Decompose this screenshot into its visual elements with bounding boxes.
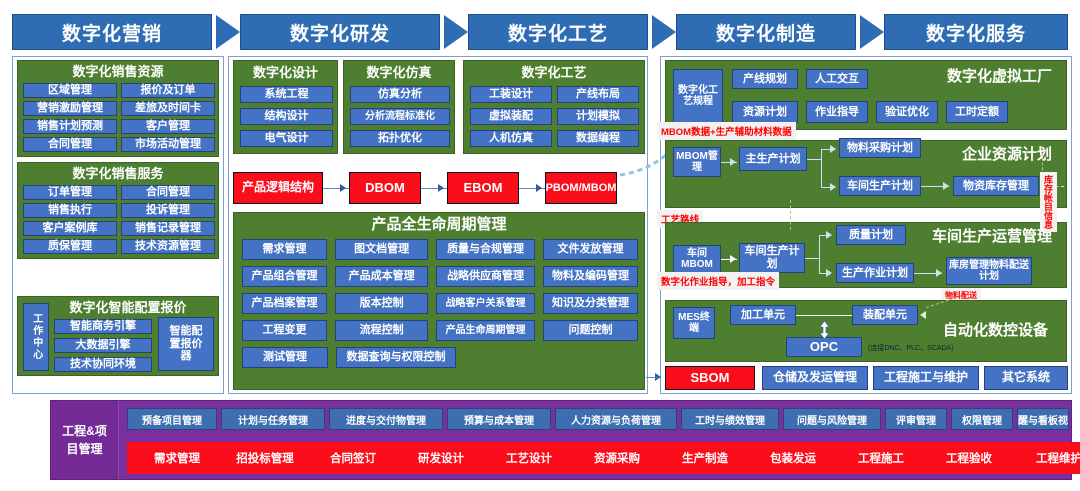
card-product-lifecycle-management[interactable]: 产品生命周期管理 <box>436 320 535 341</box>
stage-rd-design[interactable]: 研发设计 <box>391 442 491 474</box>
plm-row-4: 工程变更 流程控制 产品生命周期管理 问题控制 <box>242 320 638 341</box>
pm-card-hours-performance[interactable]: 工时与绩效管理 <box>681 408 779 430</box>
card-work-instruction[interactable]: 作业指导 <box>806 101 868 123</box>
panel-digital-design: 数字化设计 系统工程 结构设计 电气设计 <box>233 60 338 154</box>
callout-work-instruction: 数字化作业指导，加工指令 <box>657 272 779 290</box>
card-file-release-management[interactable]: 文件发放管理 <box>543 239 638 260</box>
card-resource-plan[interactable]: 资源计划 <box>732 101 798 123</box>
panel-title-workshop-operations: 车间生产运营管理 <box>932 229 1052 246</box>
label-unit-note: 数控驱动、采集、自动检测等 <box>797 290 853 297</box>
phase-banner-marketing[interactable]: 数字化营销 <box>12 14 212 50</box>
card-product-archive[interactable]: 产品档案管理 <box>242 293 327 314</box>
panel-sales-service: 数字化销售服务 订单管理 销售执行 客户案例库 质保管理 合同管理 投诉管理 销… <box>17 162 219 259</box>
card-mes-terminal[interactable]: MES终端 <box>673 307 715 339</box>
card-virtual-assembly[interactable]: 虚拟装配 <box>470 108 552 125</box>
panel-title-automation: 自动化数控设备 <box>943 323 1048 340</box>
card-sales-execution[interactable]: 销售执行 <box>23 203 117 218</box>
project-management-band: 工程&项 目管理 预备项目管理 计划与任务管理 进度与交付物管理 预算与成本管理… <box>50 400 1072 480</box>
card-market-activity[interactable]: 市场活动管理 <box>121 137 215 152</box>
pm-title-line2: 目管理 <box>66 440 102 458</box>
card-structural-design[interactable]: 结构设计 <box>240 108 333 125</box>
phase-banner-rd[interactable]: 数字化研发 <box>240 14 440 50</box>
mes-conn-2 <box>805 258 819 259</box>
pm-card-preliminary-project[interactable]: 预备项目管理 <box>127 408 217 430</box>
bom-arrow-2-icon <box>438 184 444 192</box>
card-version-control[interactable]: 版本控制 <box>335 293 428 314</box>
card-marketing-incentive[interactable]: 营销激励管理 <box>23 101 117 116</box>
card-workshop-production-plan[interactable]: 车间生产计划 <box>839 176 921 196</box>
card-customer-management[interactable]: 客户管理 <box>121 119 215 134</box>
mes-arrow-3-icon <box>826 269 832 277</box>
panel-digital-simulation: 数字化仿真 仿真分析 分析流程标准化 拓扑优化 <box>343 60 455 154</box>
card-warranty-management[interactable]: 质保管理 <box>23 239 117 254</box>
dash-separator-1 <box>790 200 791 230</box>
project-management-title: 工程&项 目管理 <box>51 401 119 479</box>
pm-card-budget-cost[interactable]: 预算与成本管理 <box>447 408 551 430</box>
card-warehouse-shipping-management[interactable]: 仓储及发运管理 <box>762 366 868 390</box>
panel-title-digital-design: 数字化设计 <box>234 66 337 80</box>
stage-bidding-management[interactable]: 招投标管理 <box>215 442 315 474</box>
card-product-logic-structure[interactable]: 产品逻辑结构 <box>233 172 323 204</box>
card-data-query-permission[interactable]: 数据查询与权限控制 <box>336 347 456 368</box>
card-product-cost-management[interactable]: 产品成本管理 <box>335 266 428 287</box>
card-dbom[interactable]: DBOM <box>349 172 421 204</box>
phase-arrow-1-icon <box>216 15 240 49</box>
card-knowledge-classification[interactable]: 知识及分类管理 <box>543 293 638 314</box>
stage-packaging-shipping[interactable]: 包装发运 <box>743 442 843 474</box>
card-sales-record-management[interactable]: 销售记录管理 <box>121 221 215 236</box>
card-sbom[interactable]: SBOM <box>665 366 755 390</box>
card-human-machine-simulation[interactable]: 人机仿真 <box>470 130 552 147</box>
panel-automation: 自动化数控设备 MES终端 加工单元 装配单元 数控驱动、采集、自动检测等 OP… <box>665 300 1067 362</box>
plm-row-3: 产品档案管理 版本控制 战略客户关系管理 知识及分类管理 <box>242 293 638 314</box>
panel-erp: 企业资源计划 MBOM管理 主生产计划 物料采购计划 车间生产计划 物资库存管理 <box>665 140 1067 208</box>
card-material-inventory-management[interactable]: 物资库存管理 <box>953 176 1039 196</box>
erp-arrow-4-icon <box>943 182 949 190</box>
card-material-coding[interactable]: 物料及编码管理 <box>543 266 638 287</box>
panel-title-sales-service: 数字化销售服务 <box>18 167 218 181</box>
callout-inventory-account: 库存帐目信息 <box>1040 172 1057 232</box>
card-analysis-process-standardization[interactable]: 分析流程标准化 <box>350 108 450 125</box>
pm-card-permission[interactable]: 权限管理 <box>951 408 1013 430</box>
bom-arrow-1-icon <box>340 184 346 192</box>
card-bigdata-engine[interactable]: 大数据引擎 <box>54 338 152 353</box>
phase-label: 数字化研发 <box>290 19 390 46</box>
card-simulation-analysis[interactable]: 仿真分析 <box>350 86 450 103</box>
card-quote-order[interactable]: 报价及订单 <box>121 83 215 98</box>
auto-arrow-delivery-icon <box>920 311 926 319</box>
card-contract-management-2[interactable]: 合同管理 <box>121 185 215 200</box>
stage-contract-signing[interactable]: 合同签订 <box>303 442 403 474</box>
stage-engineering-maintenance[interactable]: 工程维护 <box>1007 442 1080 474</box>
plm-row-5: 测试管理 数据查询与权限控制 <box>242 347 638 368</box>
card-smart-config-quoter[interactable]: 智能配置报价器 <box>158 317 214 371</box>
phase-banner-row: 数字化营销 数字化研发 数字化工艺 数字化制造 数字化服务 <box>0 14 1080 50</box>
plm-row-1: 需求管理 图文档管理 质量与合规管理 文件发放管理 <box>242 239 638 260</box>
card-master-production-plan[interactable]: 主生产计划 <box>739 147 807 171</box>
phase-arrow-2-icon <box>444 15 468 49</box>
card-quality-compliance[interactable]: 质量与合规管理 <box>436 239 535 260</box>
card-tooling-design[interactable]: 工装设计 <box>470 86 552 103</box>
phase-banner-manufacturing[interactable]: 数字化制造 <box>676 14 856 50</box>
panel-sales-resource: 数字化销售资源 区域管理 营销激励管理 销售计划预测 合同管理 报价及订单 差旅… <box>17 60 219 157</box>
pm-card-plan-task[interactable]: 计划与任务管理 <box>221 408 325 430</box>
sbom-connector <box>646 377 658 378</box>
card-engineering-construction-maintenance[interactable]: 工程施工与维护 <box>873 366 979 390</box>
panel-title-plm: 产品全生命周期管理 <box>234 217 644 234</box>
card-warehouse-material-delivery-plan[interactable]: 库房管理物料配送计划 <box>946 257 1032 285</box>
pm-card-issue-risk[interactable]: 问题与风险管理 <box>783 408 881 430</box>
mes-arrow-4-icon <box>936 269 942 277</box>
phase-label: 数字化制造 <box>716 19 816 46</box>
card-strategic-customer-relation[interactable]: 战略客户关系管理 <box>436 293 535 314</box>
card-sales-forecast[interactable]: 销售计划预测 <box>23 119 117 134</box>
card-assembly-unit[interactable]: 装配单元 <box>852 305 918 325</box>
card-material-purchase-plan[interactable]: 物料采购计划 <box>839 138 921 158</box>
phase-label: 数字化营销 <box>62 19 162 46</box>
card-issue-control[interactable]: 问题控制 <box>543 320 638 341</box>
panel-title-erp: 企业资源计划 <box>962 147 1052 164</box>
erp-arrow-1-icon <box>730 158 736 166</box>
panel-digital-craft: 数字化工艺 工装设计 虚拟装配 人机仿真 产线布局 计划模拟 数据编程 <box>463 60 645 154</box>
card-strategic-supplier[interactable]: 战略供应商管理 <box>436 266 535 287</box>
card-other-systems[interactable]: 其它系统 <box>984 366 1068 390</box>
card-work-center[interactable]: 工作中心 <box>23 303 49 371</box>
panel-virtual-factory: 数字化虚拟工厂 数字化工艺规程 产线规划 人工交互 资源计划 作业指导 验证优化… <box>665 60 1067 130</box>
stage-engineering-acceptance[interactable]: 工程验收 <box>919 442 1019 474</box>
mes-arrow-1-icon <box>730 255 736 263</box>
card-electrical-design[interactable]: 电气设计 <box>240 130 333 147</box>
mes-arrow-2-icon <box>826 231 832 239</box>
stage-requirement-management[interactable]: 需求管理 <box>127 442 227 474</box>
stage-engineering-construction[interactable]: 工程施工 <box>831 442 931 474</box>
panel-title-digital-craft: 数字化工艺 <box>464 66 644 80</box>
erp-conn-2 <box>807 159 821 160</box>
stage-production-manufacturing[interactable]: 生产制造 <box>655 442 755 474</box>
card-contract-management[interactable]: 合同管理 <box>23 137 117 152</box>
card-pbom-mbom[interactable]: PBOM/MBOM <box>545 172 617 204</box>
card-customer-case-library[interactable]: 客户案例库 <box>23 221 117 236</box>
digital-enterprise-architecture-diagram: 数字化营销 数字化研发 数字化工艺 数字化制造 数字化服务 数字化销售资源 区域… <box>0 0 1080 491</box>
card-production-job-plan[interactable]: 生产作业计划 <box>836 263 914 283</box>
auto-conn-1 <box>796 315 852 316</box>
card-verification-optimization[interactable]: 验证优化 <box>876 101 938 123</box>
card-production-line-planning[interactable]: 产线规划 <box>732 69 798 89</box>
phase-label: 数字化服务 <box>926 19 1026 46</box>
card-tech-collab-environment[interactable]: 技术协同环境 <box>54 357 152 372</box>
pm-card-reminder-kanban[interactable]: 提醒与看板视图 <box>1017 408 1069 430</box>
panel-title-virtual-factory: 数字化虚拟工厂 <box>947 69 1052 86</box>
phase-arrow-3-icon <box>652 15 676 49</box>
card-workshop-mbom[interactable]: 车间MBOM <box>673 245 721 273</box>
card-test-management[interactable]: 测试管理 <box>242 347 328 368</box>
card-topology-optimization[interactable]: 拓扑优化 <box>350 130 450 147</box>
card-digital-craft-spec[interactable]: 数字化工艺规程 <box>673 69 723 123</box>
pm-card-review[interactable]: 评审管理 <box>885 408 947 430</box>
opc-double-arrow-icon <box>820 321 829 339</box>
plm-row-2: 产品组合管理 产品成本管理 战略供应商管理 物料及编码管理 <box>242 266 638 287</box>
card-requirement-management[interactable]: 需求管理 <box>242 239 327 260</box>
card-production-line-layout[interactable]: 产线布局 <box>557 86 639 103</box>
card-smart-business-engine[interactable]: 智能商务引擎 <box>54 319 152 334</box>
card-travel-timecard[interactable]: 差旅及时间卡 <box>121 101 215 116</box>
bom-arrow-3-icon <box>536 184 542 192</box>
card-quality-plan[interactable]: 质量计划 <box>836 225 906 245</box>
pm-card-hr-load[interactable]: 人力资源与负荷管理 <box>555 408 677 430</box>
phase-label: 数字化工艺 <box>508 19 608 46</box>
card-plan-simulation[interactable]: 计划模拟 <box>557 108 639 125</box>
card-opc[interactable]: OPC <box>786 337 862 357</box>
card-product-portfolio[interactable]: 产品组合管理 <box>242 266 327 287</box>
card-manual-interaction[interactable]: 人工交互 <box>806 69 868 89</box>
panel-plm: 产品全生命周期管理 需求管理 图文档管理 质量与合规管理 文件发放管理 产品组合… <box>233 212 645 390</box>
label-opc-note: (连接DNC、PLC、SCADA) <box>868 343 954 353</box>
card-document-management[interactable]: 图文档管理 <box>335 239 428 260</box>
card-mbom-management[interactable]: MBOM管理 <box>673 147 721 177</box>
card-labor-hour-quota[interactable]: 工时定额 <box>946 101 1008 123</box>
stage-process-design[interactable]: 工艺设计 <box>479 442 579 474</box>
card-engineering-change[interactable]: 工程变更 <box>242 320 327 341</box>
stage-resource-procurement[interactable]: 资源采购 <box>567 442 667 474</box>
card-tech-resource-management[interactable]: 技术资源管理 <box>121 239 215 254</box>
pm-title-line1: 工程&项 <box>62 422 107 440</box>
erp-arrow-3-icon <box>830 183 836 191</box>
panel-smart-quote: 数字化智能配置报价 工作中心 智能商务引擎 大数据引擎 技术协同环境 智能配置报… <box>17 296 219 376</box>
card-system-engineering[interactable]: 系统工程 <box>240 86 333 103</box>
pm-card-progress-deliverable[interactable]: 进度与交付物管理 <box>329 408 443 430</box>
card-data-programming[interactable]: 数据编程 <box>557 130 639 147</box>
card-process-control[interactable]: 流程控制 <box>335 320 428 341</box>
phase-banner-process[interactable]: 数字化工艺 <box>468 14 648 50</box>
card-complaint-management[interactable]: 投诉管理 <box>121 203 215 218</box>
panel-title-smart-quote: 数字化智能配置报价 <box>40 301 216 315</box>
erp-conn-3 <box>821 149 822 187</box>
erp-arrow-2-icon <box>830 145 836 153</box>
card-machining-unit[interactable]: 加工单元 <box>730 305 796 325</box>
card-ebom[interactable]: EBOM <box>447 172 519 204</box>
callout-mbom-data: MBOM数据+生产辅助材料数据 <box>657 122 796 140</box>
mes-conn-3 <box>819 235 820 273</box>
panel-title-digital-simulation: 数字化仿真 <box>344 66 454 80</box>
card-order-management[interactable]: 订单管理 <box>23 185 117 200</box>
panel-title-sales-resource: 数字化销售资源 <box>18 65 218 79</box>
card-area-management[interactable]: 区域管理 <box>23 83 117 98</box>
phase-arrow-4-icon <box>860 15 884 49</box>
card-workshop-plan[interactable]: 车间生产计划 <box>739 243 805 273</box>
phase-banner-service[interactable]: 数字化服务 <box>884 14 1068 50</box>
